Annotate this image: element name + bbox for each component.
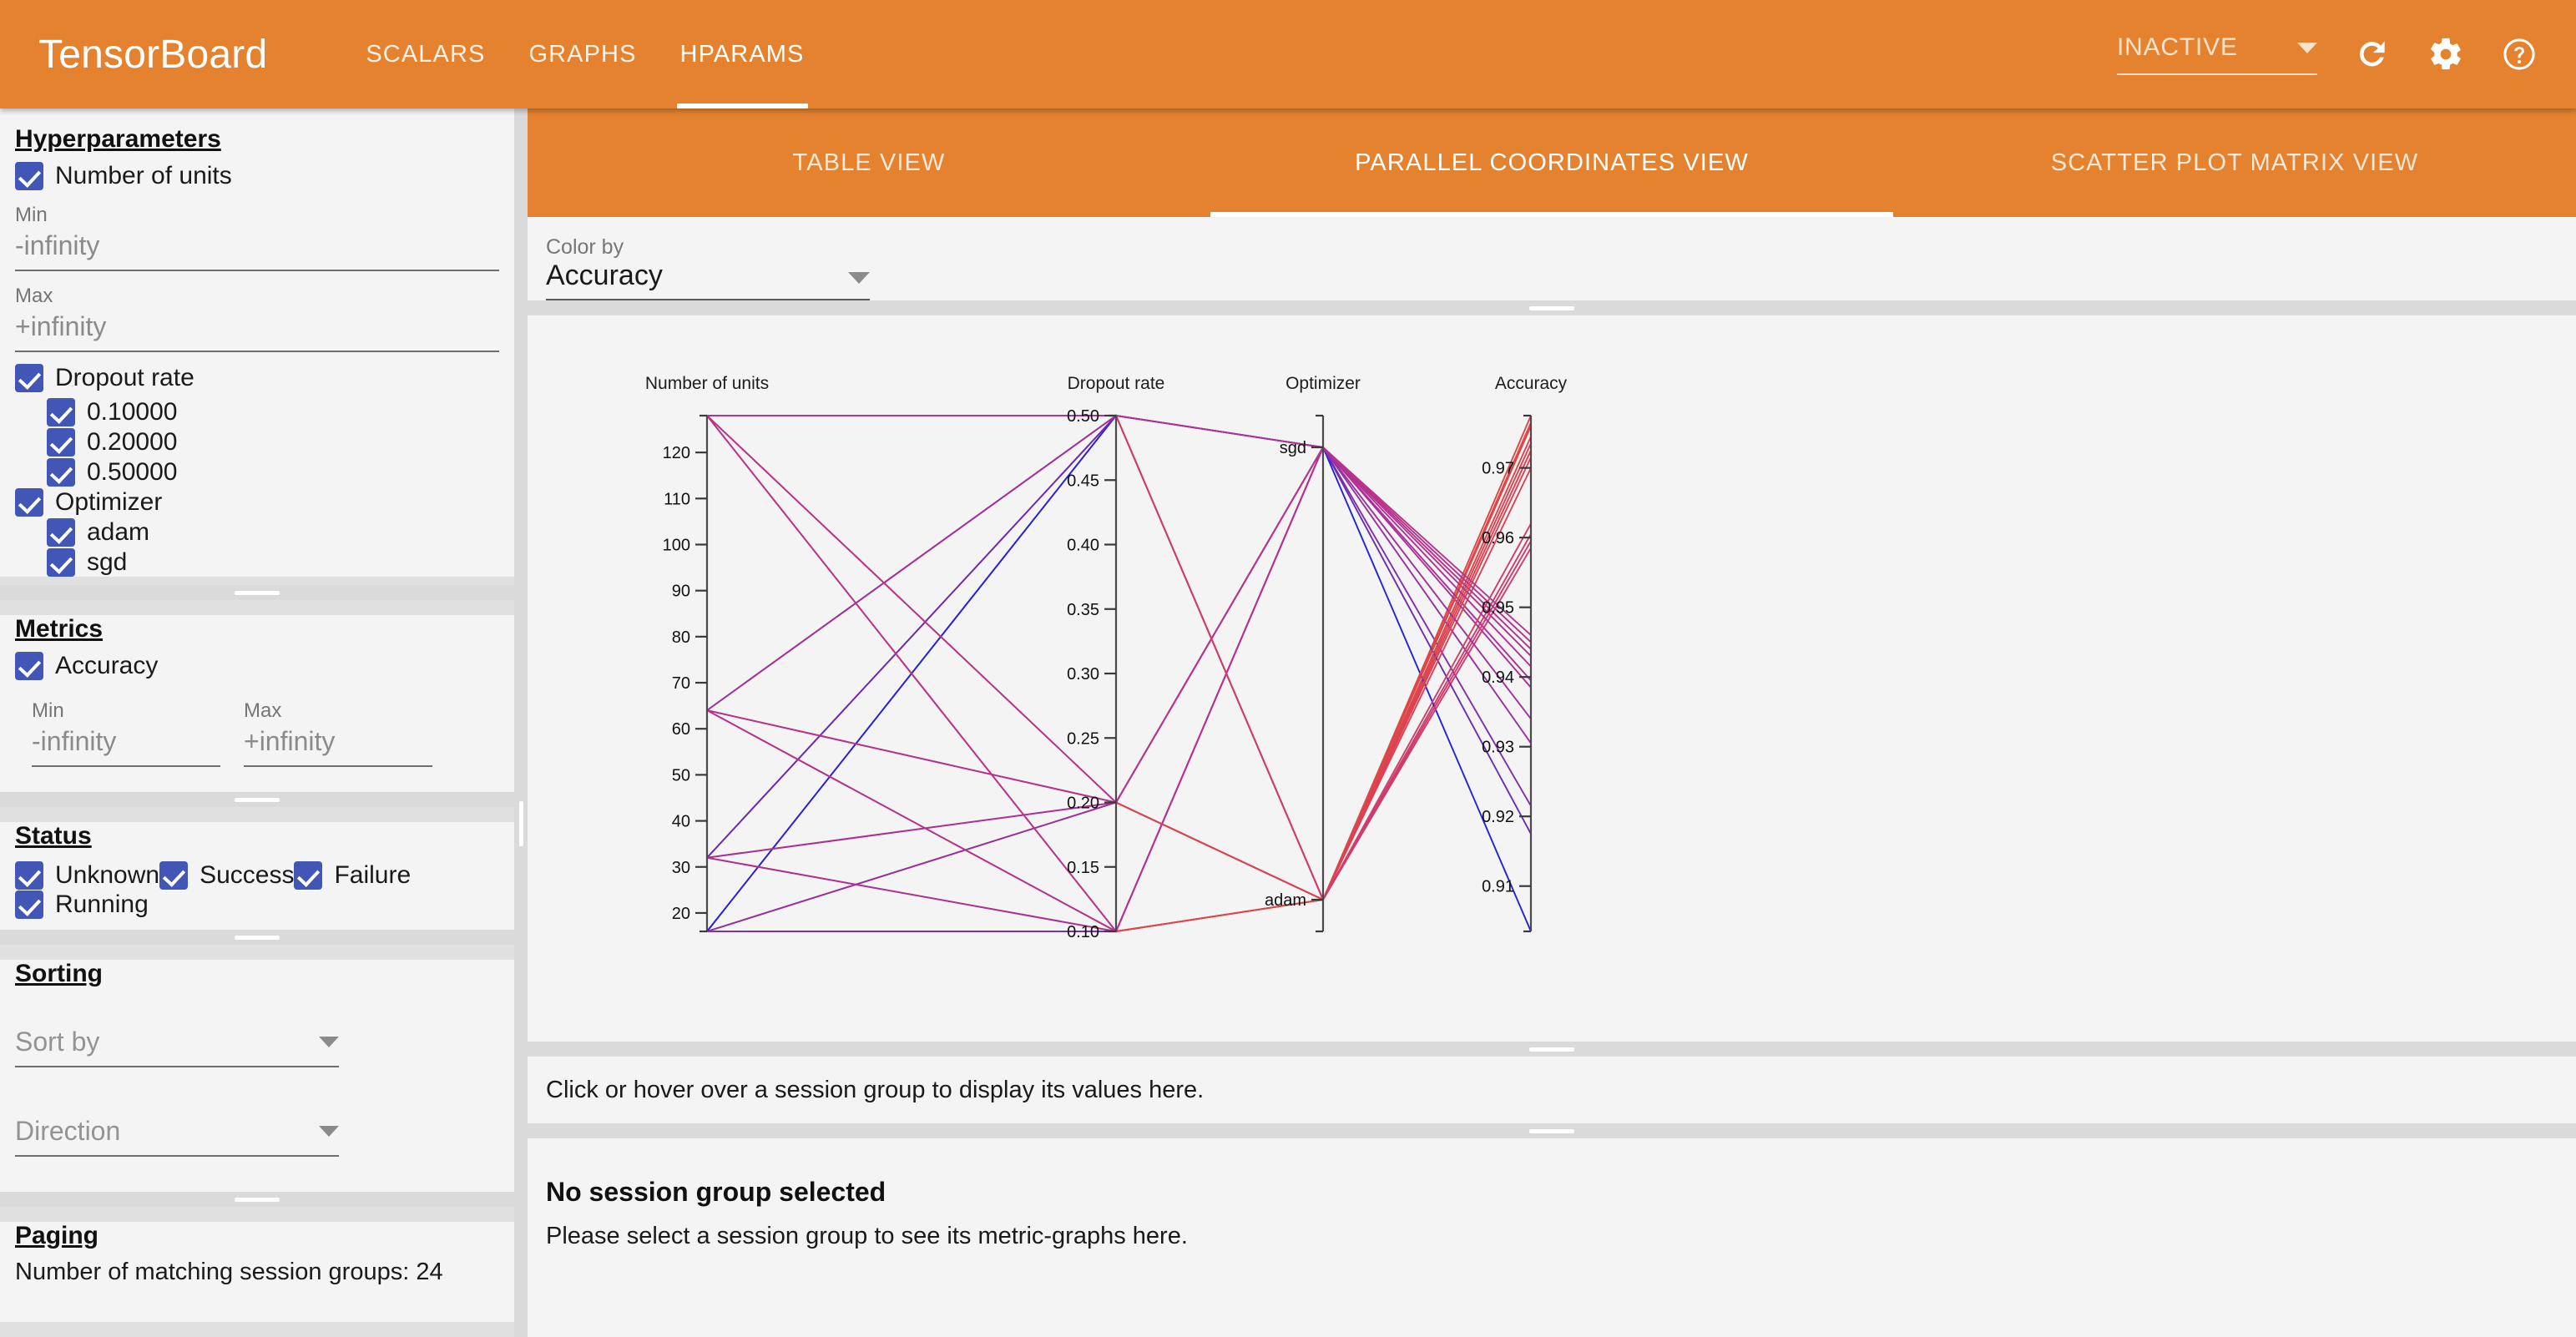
hparam-value-optimizer-adam[interactable]: adam	[47, 518, 499, 547]
hover-hint-text: Click or hover over a session group to d…	[546, 1077, 1204, 1104]
axis-tick-label: 0.93	[1482, 739, 1514, 757]
sidebar-section-metrics: Metrics Accuracy Min -infinity Max +infi…	[0, 615, 514, 792]
sidebar-section-sorting: Sorting Sort by Direction	[0, 960, 514, 1192]
checkbox-checked-icon[interactable]	[15, 364, 43, 392]
axis-title-3: Accuracy	[1495, 374, 1568, 393]
session-line-15	[707, 447, 1531, 803]
session-group-panel: No session group selected Please select …	[528, 1138, 2576, 1337]
run-status-selector[interactable]: INACTIVE	[2117, 33, 2317, 75]
metric-label: Accuracy	[55, 652, 158, 680]
axis-tick-label: 0.10	[1067, 923, 1099, 941]
accuracy-max-field[interactable]: Max +infinity	[244, 699, 432, 767]
color-by-panel: Color by Accuracy	[528, 217, 2576, 300]
axis-tick-label: 0.45	[1067, 472, 1099, 490]
gear-icon[interactable]	[2427, 36, 2464, 73]
session-line-18	[707, 416, 1531, 931]
app-brand: TensorBoard	[38, 32, 267, 78]
hparam-value-label: 0.20000	[87, 428, 177, 457]
chevron-down-icon	[319, 1126, 339, 1137]
axis-tick-label: 100	[663, 537, 690, 555]
direction-value: Direction	[15, 1116, 120, 1147]
parallel-coordinates-chart[interactable]: Number of units2030405060708090100110120…	[528, 315, 2576, 1042]
checkbox-checked-icon[interactable]	[15, 890, 43, 919]
status-unknown[interactable]: Unknown	[15, 861, 159, 890]
accuracy-min-label: Min	[32, 699, 220, 723]
hparam-number-of-units[interactable]: Number of units	[15, 162, 499, 190]
session-line-20	[707, 416, 1531, 900]
sort-by-value: Sort by	[15, 1027, 99, 1057]
parallel-coordinates-svg[interactable]: Number of units2030405060708090100110120…	[528, 315, 2576, 1042]
status-checkbox-group: Unknown Success Failure Running	[15, 859, 499, 921]
status-label: Running	[55, 890, 149, 919]
axis-tick-label: 0.15	[1067, 859, 1099, 877]
hparam-label: Dropout rate	[55, 364, 194, 392]
checkbox-checked-icon[interactable]	[47, 548, 75, 577]
tab-table-view[interactable]: TABLE VIEW	[528, 108, 1210, 217]
axis-tick-label: 120	[663, 444, 690, 462]
matching-session-groups-count: Number of matching session groups: 24	[15, 1259, 499, 1286]
sidebar-section-hyperparameters: Hyperparameters Number of units Min -inf…	[0, 108, 514, 577]
help-icon[interactable]	[2501, 36, 2538, 73]
accuracy-min-field[interactable]: Min -infinity	[32, 699, 220, 767]
axis-tick-label: 0.50	[1067, 407, 1099, 426]
status-label: Success	[200, 861, 294, 890]
units-max-label: Max	[15, 285, 499, 308]
axis-title-0: Number of units	[645, 374, 769, 393]
chart-polylines	[707, 416, 1531, 931]
hparam-value-dropout-0-5[interactable]: 0.50000	[47, 458, 499, 487]
session-line-21	[707, 416, 1531, 803]
checkbox-checked-icon[interactable]	[159, 861, 188, 890]
status-title: Status	[15, 822, 499, 850]
metrics-title: Metrics	[15, 615, 499, 643]
hparam-label: Number of units	[55, 162, 232, 190]
units-min-label: Min	[15, 204, 499, 227]
color-by-select[interactable]: Color by Accuracy	[546, 235, 870, 300]
accuracy-min-input[interactable]: -infinity	[32, 726, 220, 767]
checkbox-checked-icon[interactable]	[47, 398, 75, 426]
session-line-16	[707, 416, 1531, 900]
checkbox-checked-icon[interactable]	[15, 488, 43, 517]
hparam-value-dropout-0-2[interactable]: 0.20000	[47, 428, 499, 457]
axis-tick-label: 30	[672, 859, 690, 877]
hyperparameters-title: Hyperparameters	[15, 125, 499, 154]
metric-range-fields: Min -infinity Max +infinity	[15, 686, 499, 774]
chart-top-splitter[interactable]	[528, 300, 2576, 315]
sort-by-select[interactable]: Sort by	[15, 1027, 339, 1067]
units-max-input[interactable]: +infinity	[15, 311, 499, 352]
session-line-7	[707, 447, 1531, 931]
tab-parallel-coordinates-view[interactable]: PARALLEL COORDINATES VIEW	[1210, 108, 1893, 217]
axis-tick-label: 0.95	[1482, 599, 1514, 618]
units-min-input[interactable]: -infinity	[15, 230, 499, 271]
axis-tick-label: 50	[672, 766, 690, 785]
app-header: TensorBoard SCALARS GRAPHS HPARAMS INACT…	[0, 0, 2576, 108]
axis-tick-label: 0.40	[1067, 537, 1099, 555]
chevron-down-icon	[2297, 43, 2317, 53]
axis-tick-label: 0.30	[1067, 665, 1099, 684]
axis-tick-label: 60	[672, 720, 690, 739]
nav-tab-hparams[interactable]: HPARAMS	[659, 0, 826, 108]
main-content: TABLE VIEW PARALLEL COORDINATES VIEW SCA…	[528, 108, 2576, 1337]
accuracy-max-label: Max	[244, 699, 432, 723]
axis-tick-label: 90	[672, 583, 690, 601]
session-line-1	[707, 447, 1531, 931]
status-label: Unknown	[55, 861, 159, 890]
tab-scatter-plot-matrix-view[interactable]: SCATTER PLOT MATRIX VIEW	[1893, 108, 2576, 217]
checkbox-checked-icon[interactable]	[15, 861, 43, 890]
direction-select[interactable]: Direction	[15, 1116, 339, 1157]
sidebar-resize-handle[interactable]	[514, 108, 528, 1337]
nav-tab-scalars[interactable]: SCALARS	[344, 0, 507, 108]
session-line-12	[707, 436, 1531, 931]
sidebar-splitter-status[interactable]	[0, 930, 514, 945]
session-line-11	[707, 416, 1531, 858]
axis-tick-label: adam	[1265, 891, 1306, 910]
session-line-6	[707, 416, 1531, 931]
axis-tick-label: 0.20	[1067, 795, 1099, 813]
session-line-13	[707, 447, 1531, 931]
sidebar-section-paging: Paging Number of matching session groups…	[0, 1222, 514, 1322]
hparam-value-label: sgd	[87, 548, 127, 577]
session-group-subtitle: Please select a session group to see its…	[546, 1223, 2576, 1250]
session-line-19	[707, 416, 1531, 931]
checkbox-checked-icon[interactable]	[15, 162, 43, 190]
axis-tick-label: 0.92	[1482, 808, 1514, 826]
checkbox-checked-icon[interactable]	[47, 458, 75, 487]
axis-tick-label: 70	[672, 674, 690, 693]
status-running[interactable]: Running	[15, 890, 149, 919]
status-success[interactable]: Success	[159, 861, 294, 890]
paging-title: Paging	[15, 1222, 499, 1250]
hparam-optimizer[interactable]: Optimizer	[15, 488, 499, 517]
sidebar-splitter-metrics[interactable]	[0, 792, 514, 807]
hparam-value-label: 0.10000	[87, 398, 177, 426]
axis-tick-label: 0.35	[1067, 601, 1099, 619]
refresh-icon[interactable]	[2354, 36, 2391, 73]
axis-tick-label: 20	[672, 905, 690, 923]
hparam-value-label: adam	[87, 518, 149, 547]
metric-accuracy[interactable]: Accuracy	[15, 652, 499, 680]
session-line-3	[707, 447, 1531, 931]
session-line-22	[707, 416, 1531, 900]
hparam-value-label: 0.50000	[87, 458, 177, 487]
hparam-value-dropout-0-1[interactable]: 0.10000	[47, 398, 499, 426]
checkbox-checked-icon[interactable]	[15, 652, 43, 680]
hparam-label: Optimizer	[55, 488, 162, 517]
color-by-value: Accuracy	[546, 260, 663, 292]
axis-tick-label: 0.94	[1482, 668, 1514, 687]
sidebar-splitter-hyperparameters[interactable]	[0, 585, 514, 600]
sidebar-splitter-sorting[interactable]	[0, 1192, 514, 1207]
session-line-2	[707, 443, 1531, 931]
chevron-down-icon	[848, 272, 870, 284]
session-line-4	[707, 416, 1531, 931]
axis-tick-label: 0.25	[1067, 729, 1099, 748]
units-max-field[interactable]: Max +infinity	[15, 285, 499, 352]
hparam-value-optimizer-sgd[interactable]: sgd	[47, 548, 499, 577]
sidebar-section-status: Status Unknown Success Failure Running	[0, 822, 514, 930]
accuracy-max-input[interactable]: +infinity	[244, 726, 432, 767]
checkbox-checked-icon[interactable]	[47, 428, 75, 457]
axis-title-2: Optimizer	[1285, 374, 1361, 393]
axis-tick-label: 40	[672, 813, 690, 831]
chevron-down-icon	[319, 1037, 339, 1047]
hparam-dropout-rate[interactable]: Dropout rate	[15, 364, 499, 392]
axis-tick-label: 0.97	[1482, 460, 1514, 478]
units-min-field[interactable]: Min -infinity	[15, 204, 499, 271]
color-by-label: Color by	[546, 235, 663, 260]
header-actions: INACTIVE	[2117, 33, 2538, 75]
checkbox-checked-icon[interactable]	[294, 861, 322, 890]
axis-title-1: Dropout rate	[1068, 374, 1165, 393]
nav-tab-graphs[interactable]: GRAPHS	[507, 0, 658, 108]
status-failure[interactable]: Failure	[294, 861, 411, 890]
sidebar: Hyperparameters Number of units Min -inf…	[0, 108, 514, 1337]
sorting-title: Sorting	[15, 960, 499, 988]
session-values-panel: Click or hover over a session group to d…	[528, 1057, 2576, 1123]
axis-tick-label: 110	[664, 490, 690, 508]
axis-tick-label: sgd	[1280, 439, 1306, 457]
session-line-10	[707, 416, 1531, 900]
status-label: Failure	[334, 861, 411, 890]
axis-tick-label: 0.91	[1482, 878, 1514, 896]
session-line-0	[707, 422, 1531, 931]
view-tab-bar: TABLE VIEW PARALLEL COORDINATES VIEW SCA…	[528, 108, 2576, 217]
chart-bottom-splitter[interactable]	[528, 1042, 2576, 1057]
session-group-title: No session group selected	[546, 1177, 2576, 1208]
metrics-panel-splitter[interactable]	[528, 1123, 2576, 1138]
session-line-5	[707, 416, 1531, 931]
run-status-value: INACTIVE	[2117, 33, 2238, 62]
axis-tick-label: 0.96	[1482, 529, 1514, 547]
checkbox-checked-icon[interactable]	[47, 518, 75, 547]
axis-tick-label: 80	[672, 628, 690, 647]
